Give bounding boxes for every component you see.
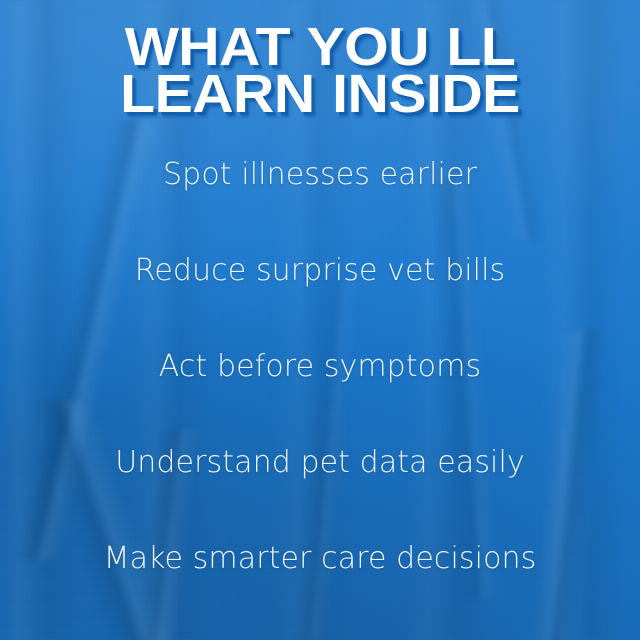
benefit-item-2: Reduce surprise vet bills [0, 254, 640, 288]
headline: WHAT YOU LL LEARN INSIDE [0, 24, 640, 118]
benefit-item-3: Act before symptoms [0, 350, 640, 384]
poster-content: WHAT YOU LL LEARN INSIDE Spot illnesses … [0, 0, 640, 640]
benefit-item-1: Spot illnesses earlier [0, 158, 640, 192]
benefit-list: Spot illnesses earlier Reduce surprise v… [0, 158, 640, 576]
poster-canvas: WHAT YOU LL LEARN INSIDE Spot illnesses … [0, 0, 640, 640]
benefit-item-5: Make smarter care decisions [0, 542, 640, 576]
benefit-item-4: Understand pet data easily [0, 446, 640, 480]
headline-line-2: LEARN INSIDE [0, 71, 640, 118]
